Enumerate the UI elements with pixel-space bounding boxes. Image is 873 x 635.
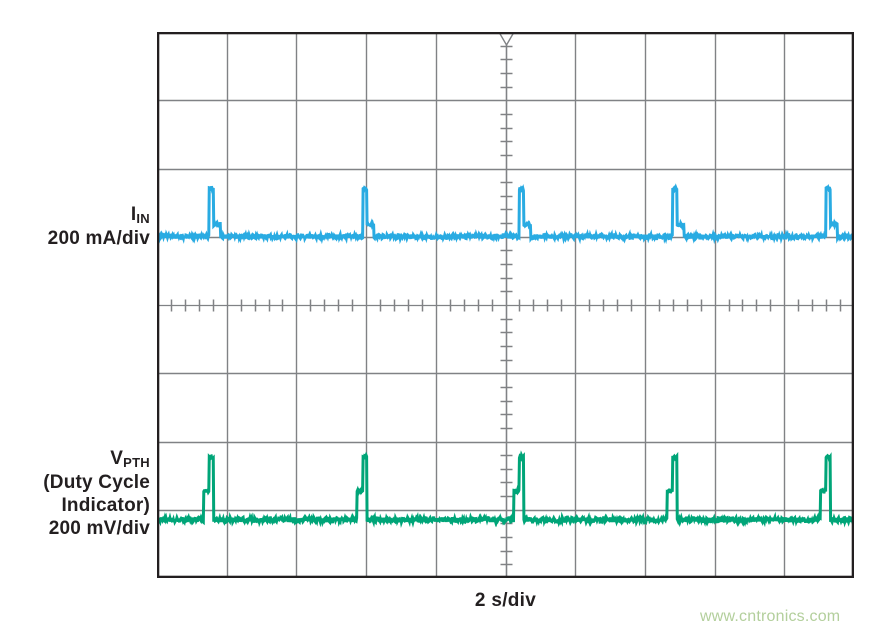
channel2-name-line: VPTH: [0, 447, 150, 471]
channel2-annotation-line1: (Duty Cycle: [0, 471, 150, 494]
channel1-subscript: IN: [136, 211, 150, 226]
channel2-annotation-line2: Indicator): [0, 494, 150, 517]
channel1-scale: 200 mA/div: [0, 227, 150, 250]
watermark: www.cntronics.com: [700, 608, 840, 626]
channel2-name: V: [110, 448, 123, 469]
channel1-label: IIN 200 mA/div: [0, 203, 150, 250]
oscilloscope-plot: [157, 32, 854, 578]
channel2-label: VPTH (Duty Cycle Indicator) 200 mV/div: [0, 447, 150, 540]
channel2-scale: 200 mV/div: [0, 517, 150, 540]
figure-root: IIN 200 mA/div VPTH (Duty Cycle Indicato…: [0, 0, 873, 635]
channel2-subscript: PTH: [123, 455, 150, 470]
scope-svg: [157, 32, 854, 578]
channel1-name-line: IIN: [0, 203, 150, 227]
